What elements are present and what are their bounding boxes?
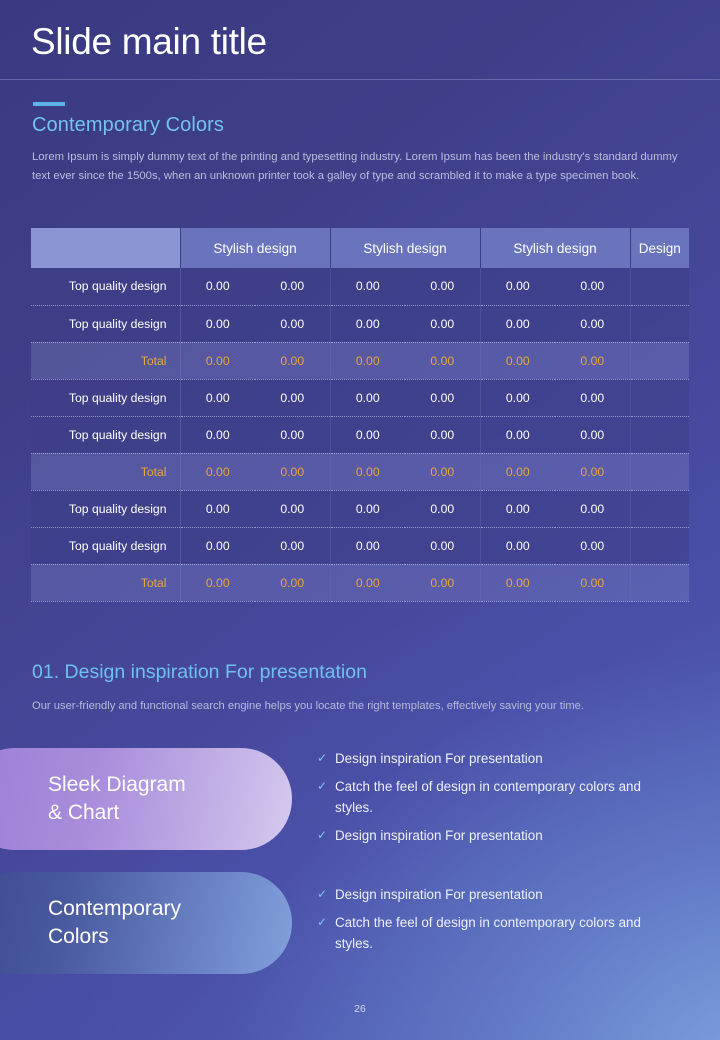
table-cell: 0.00	[180, 268, 255, 305]
table-cell: 0.00	[255, 268, 330, 305]
table-row-label: Top quality design	[31, 268, 180, 305]
table-cell: 0.00	[180, 527, 255, 564]
table-cell: 0.00	[255, 416, 330, 453]
table-header-cell-blank	[31, 228, 180, 268]
table-cell: 0.00	[405, 268, 480, 305]
table-cell: 0.00	[255, 453, 330, 490]
list-item: ✓ Design inspiration For presentation	[317, 825, 677, 846]
table-cell: 0.00	[555, 453, 630, 490]
list-item-label: Catch the feel of design in contemporary…	[335, 912, 677, 954]
pill-label: Contemporary Colors	[48, 895, 181, 951]
table-cell: 0.00	[180, 490, 255, 527]
table-cell: 0.00	[255, 490, 330, 527]
pill-sleek-diagram-chart[interactable]: Sleek Diagram & Chart	[0, 748, 292, 850]
table-cell: 0.00	[255, 305, 330, 342]
table-cell	[630, 453, 689, 490]
table-cell: 0.00	[555, 564, 630, 601]
check-icon: ✓	[317, 884, 335, 905]
table-row-label: Top quality design	[31, 490, 180, 527]
table-row: Top quality design 0.00 0.00 0.00 0.00 0…	[31, 305, 689, 342]
table-cell: 0.00	[330, 268, 405, 305]
check-icon: ✓	[317, 912, 335, 933]
table-cell	[630, 268, 689, 305]
table-row-label: Top quality design	[31, 416, 180, 453]
table-cell: 0.00	[255, 342, 330, 379]
table-cell: 0.00	[480, 453, 555, 490]
table-cell	[630, 379, 689, 416]
table-cell: 0.00	[555, 416, 630, 453]
table-cell: 0.00	[405, 527, 480, 564]
table-cell: 0.00	[330, 564, 405, 601]
table-cell: 0.00	[480, 564, 555, 601]
table-header-cell-2: Stylish design	[330, 228, 480, 268]
table-row-total: Total 0.00 0.00 0.00 0.00 0.00 0.00	[31, 342, 689, 379]
pill-label: Sleek Diagram & Chart	[48, 771, 186, 827]
table-row: Top quality design 0.00 0.00 0.00 0.00 0…	[31, 268, 689, 305]
table-cell: 0.00	[405, 490, 480, 527]
table-cell: 0.00	[480, 527, 555, 564]
bullet-list-1: ✓ Design inspiration For presentation ✓ …	[317, 748, 677, 853]
table-row: Top quality design 0.00 0.00 0.00 0.00 0…	[31, 527, 689, 564]
data-table: Stylish design Stylish design Stylish de…	[31, 228, 689, 602]
table-cell: 0.00	[555, 342, 630, 379]
table-cell: 0.00	[330, 379, 405, 416]
table-cell	[630, 490, 689, 527]
table-cell: 0.00	[405, 342, 480, 379]
table-cell: 0.00	[180, 453, 255, 490]
table-cell: 0.00	[180, 305, 255, 342]
accent-bar-icon	[33, 102, 65, 106]
table-header-cell-4: Design	[630, 228, 689, 268]
page-number: 26	[0, 1003, 720, 1015]
table-row: Top quality design 0.00 0.00 0.00 0.00 0…	[31, 416, 689, 453]
table-row-label: Top quality design	[31, 379, 180, 416]
check-icon: ✓	[317, 825, 335, 846]
section-body-text: Lorem Ipsum is simply dummy text of the …	[32, 148, 690, 185]
table-cell: 0.00	[480, 490, 555, 527]
list-item: ✓ Design inspiration For presentation	[317, 884, 677, 905]
table-cell: 0.00	[405, 453, 480, 490]
table-cell: 0.00	[180, 416, 255, 453]
list-item-label: Design inspiration For presentation	[335, 884, 543, 905]
list-item-label: Design inspiration For presentation	[335, 748, 543, 769]
section-title-contemporary-colors: Contemporary Colors	[32, 114, 224, 137]
table-cell: 0.00	[330, 527, 405, 564]
table-header: Stylish design Stylish design Stylish de…	[31, 228, 689, 268]
table-cell: 0.00	[330, 453, 405, 490]
list-item: ✓ Design inspiration For presentation	[317, 748, 677, 769]
table-cell: 0.00	[555, 490, 630, 527]
table-cell: 0.00	[255, 527, 330, 564]
table-cell: 0.00	[405, 379, 480, 416]
table-cell	[630, 342, 689, 379]
table-cell: 0.00	[405, 305, 480, 342]
list-item: ✓ Catch the feel of design in contempora…	[317, 912, 677, 954]
section-title-design-inspiration: 01. Design inspiration For presentation	[32, 661, 367, 684]
table-cell	[630, 564, 689, 601]
table-cell: 0.00	[480, 416, 555, 453]
table-row: Top quality design 0.00 0.00 0.00 0.00 0…	[31, 490, 689, 527]
check-icon: ✓	[317, 748, 335, 769]
table-cell: 0.00	[330, 490, 405, 527]
table-cell: 0.00	[405, 564, 480, 601]
table-cell: 0.00	[330, 342, 405, 379]
list-item-label: Design inspiration For presentation	[335, 825, 543, 846]
bullet-list-2: ✓ Design inspiration For presentation ✓ …	[317, 884, 677, 961]
table-row-label: Total	[31, 342, 180, 379]
table-row-label: Total	[31, 564, 180, 601]
table-header-row: Stylish design Stylish design Stylish de…	[31, 228, 689, 268]
table-header-cell-1: Stylish design	[180, 228, 330, 268]
list-item: ✓ Catch the feel of design in contempora…	[317, 776, 677, 818]
table-cell: 0.00	[180, 342, 255, 379]
table-cell: 0.00	[405, 416, 480, 453]
page-title: Slide main title	[31, 21, 267, 63]
slide-header: Slide main title	[0, 0, 720, 80]
table-cell: 0.00	[255, 564, 330, 601]
table-row-total: Total 0.00 0.00 0.00 0.00 0.00 0.00	[31, 453, 689, 490]
check-icon: ✓	[317, 776, 335, 797]
table-cell: 0.00	[555, 527, 630, 564]
table-cell: 0.00	[330, 416, 405, 453]
table-cell: 0.00	[180, 564, 255, 601]
table-row-label: Top quality design	[31, 527, 180, 564]
table-row-label: Total	[31, 453, 180, 490]
table-cell	[630, 527, 689, 564]
table-cell: 0.00	[180, 379, 255, 416]
table-row-total: Total 0.00 0.00 0.00 0.00 0.00 0.00	[31, 564, 689, 601]
table-cell: 0.00	[480, 268, 555, 305]
list-item-label: Catch the feel of design in contemporary…	[335, 776, 677, 818]
table-body: Top quality design 0.00 0.00 0.00 0.00 0…	[31, 268, 689, 601]
table-cell: 0.00	[255, 379, 330, 416]
table-cell: 0.00	[480, 342, 555, 379]
table-cell	[630, 416, 689, 453]
table-cell: 0.00	[480, 379, 555, 416]
table-cell: 0.00	[555, 305, 630, 342]
table-row-label: Top quality design	[31, 305, 180, 342]
section-subtitle: Our user-friendly and functional search …	[32, 700, 584, 712]
table-cell: 0.00	[330, 305, 405, 342]
table-cell	[630, 305, 689, 342]
table-cell: 0.00	[555, 379, 630, 416]
pill-contemporary-colors[interactable]: Contemporary Colors	[0, 872, 292, 974]
slide-canvas: Slide main title Contemporary Colors Lor…	[0, 0, 720, 1040]
table-row: Top quality design 0.00 0.00 0.00 0.00 0…	[31, 379, 689, 416]
table-cell: 0.00	[555, 268, 630, 305]
table-cell: 0.00	[480, 305, 555, 342]
table-header-cell-3: Stylish design	[480, 228, 630, 268]
